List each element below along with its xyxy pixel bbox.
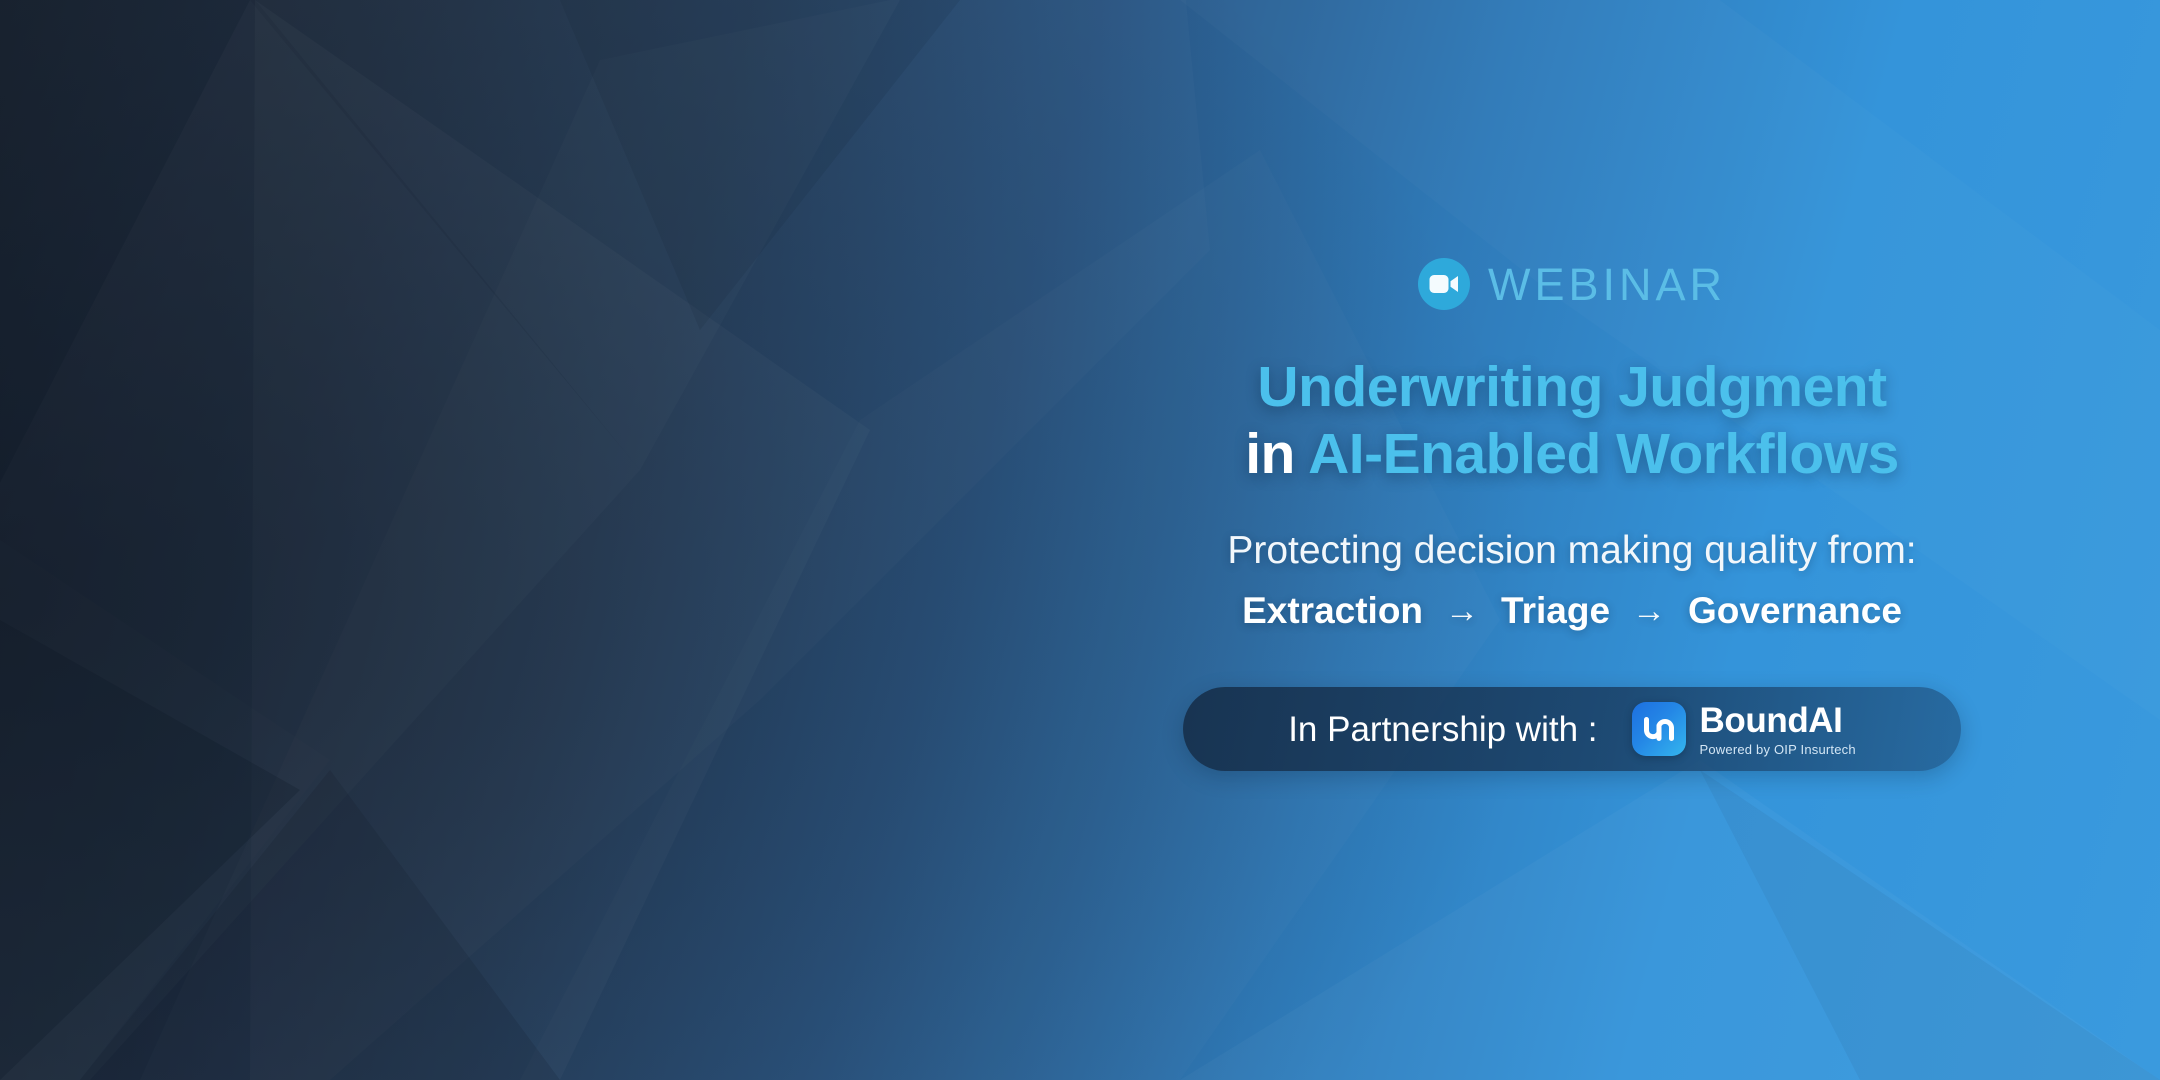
boundai-logo-icon xyxy=(1632,702,1686,756)
brand-name: BoundAI xyxy=(1700,703,1843,740)
boundai-wordmark: BoundAI Powered by OIP Insurtech xyxy=(1700,703,1856,756)
headline-line-2-accent: AI-Enabled Workflows xyxy=(1308,422,1899,486)
process-flow: Extraction → Triage → Governance xyxy=(1242,587,1902,635)
webinar-promo-banner: WEBINAR Underwriting Judgment in AI-Enab… xyxy=(0,0,2160,1080)
headline-line-1: Underwriting Judgment xyxy=(1245,354,1899,421)
arrow-right-icon: → xyxy=(1632,589,1666,633)
banner-content: WEBINAR Underwriting Judgment in AI-Enab… xyxy=(1142,0,2002,1080)
partnership-label: In Partnership with : xyxy=(1288,712,1597,747)
eyebrow-label: WEBINAR xyxy=(1488,262,1726,307)
boundai-brand: BoundAI Powered by OIP Insurtech xyxy=(1632,702,1856,756)
arrow-right-icon: → xyxy=(1445,589,1479,633)
brand-tagline: Powered by OIP Insurtech xyxy=(1700,743,1856,756)
subtitle: Protecting decision making quality from: xyxy=(1227,527,1916,576)
video-camera-icon xyxy=(1418,258,1470,310)
flow-step-extraction: Extraction xyxy=(1242,587,1423,635)
headline-line-2: in AI-Enabled Workflows xyxy=(1245,421,1899,488)
headline-line-2-prefix: in xyxy=(1245,422,1308,486)
page-title: Underwriting Judgment in AI-Enabled Work… xyxy=(1245,354,1899,489)
flow-step-governance: Governance xyxy=(1688,587,1902,635)
partnership-badge: In Partnership with : BoundAI Powered by… xyxy=(1183,687,1961,771)
flow-step-triage: Triage xyxy=(1501,587,1610,635)
webinar-eyebrow: WEBINAR xyxy=(1418,258,1726,310)
